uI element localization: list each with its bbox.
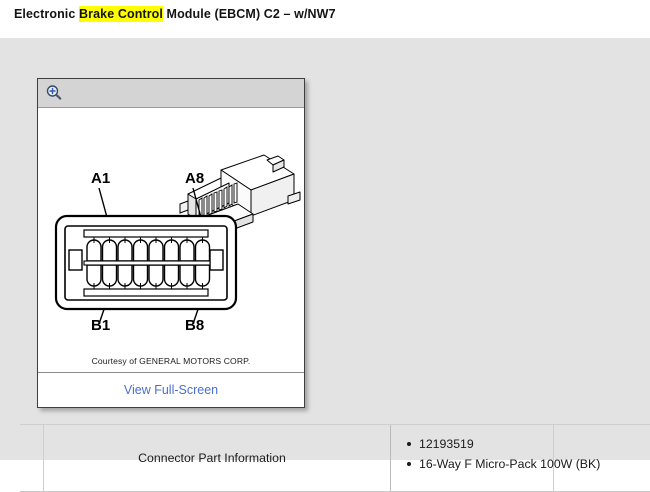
list-item: 12193519 [405, 434, 553, 454]
page-title-prefix: Electronic [14, 7, 79, 21]
connector-info-table: Connector Part Information 12193519 16-W… [20, 424, 650, 492]
table-row: Connector Part Information 12193519 16-W… [20, 425, 650, 492]
figure-caption: Courtesy of GENERAL MOTORS CORP. [38, 356, 304, 372]
view-full-screen-link[interactable]: View Full-Screen [124, 383, 218, 397]
page-title-highlight: Brake Control [79, 6, 163, 22]
figure-toolbar [38, 79, 304, 108]
magnifier-plus-icon[interactable] [45, 84, 63, 102]
connector-diagram: A1 A8 B1 B8 [38, 108, 304, 372]
table-cell-values: 12193519 16-Way F Micro-Pack 100W (BK) [391, 425, 554, 491]
figure-footer: View Full-Screen [38, 372, 304, 407]
list-item: 16-Way F Micro-Pack 100W (BK) [405, 454, 553, 474]
content-area: A1 A8 B1 B8 [0, 38, 650, 460]
page-title: Electronic Brake Control Module (EBCM) C… [14, 7, 336, 21]
part-number-list: 12193519 16-Way F Micro-Pack 100W (BK) [405, 434, 553, 474]
table-cell-spacer [20, 425, 44, 491]
pin-label-a8: A8 [185, 170, 204, 187]
connector-part-information-label: Connector Part Information [138, 451, 286, 465]
connector-diagram-svg: A1 A8 B1 B8 [38, 108, 304, 370]
pin-label-a1: A1 [91, 170, 110, 187]
page-title-suffix: Module (EBCM) C2 – w/NW7 [163, 7, 336, 21]
figure-panel: A1 A8 B1 B8 [37, 78, 305, 408]
table-cell-label: Connector Part Information [44, 425, 391, 491]
